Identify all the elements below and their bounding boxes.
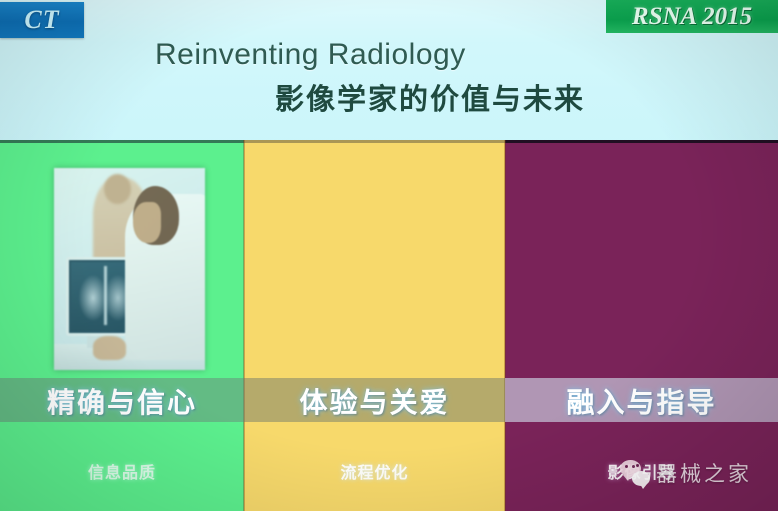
column-subcaption-precision: 信息品质: [0, 457, 244, 485]
column-caption-precision: 精确与信心: [0, 381, 244, 421]
wechat-bubbles-icon: [620, 460, 650, 486]
column-integration: [505, 140, 778, 511]
watermark-label: 器械之家: [656, 458, 752, 488]
slide-header: CT RSNA 2015 Reinventing Radiology 影像学家的…: [0, 0, 778, 140]
column-top-line: [244, 140, 505, 143]
watermark: 器械之家: [620, 458, 752, 488]
ct-logo-label: CT: [24, 5, 59, 35]
column-caption-experience: 体验与关爱: [244, 381, 505, 421]
bubble-eye-dot: [642, 464, 645, 467]
bubble-eye-dot: [625, 465, 628, 468]
photo-doctor-hand: [93, 336, 126, 360]
slide-title-english: Reinventing Radiology: [155, 38, 466, 72]
bubble-eye-dot: [632, 465, 635, 468]
column-caption-integration: 融入与指导: [505, 381, 778, 421]
rsna-logo: RSNA 2015: [606, 0, 778, 33]
column-divider-2: [504, 140, 506, 511]
presentation-slide: CT RSNA 2015 Reinventing Radiology 影像学家的…: [0, 0, 778, 511]
column-top-line: [505, 140, 778, 143]
chat-bubble-front: [632, 471, 650, 486]
column-top-line: [0, 140, 244, 143]
photo-doctor-face: [133, 202, 162, 242]
column-subcaption-experience: 流程优化: [244, 457, 505, 485]
rsna-logo-label: RSNA 2015: [632, 3, 752, 31]
photo-radiologist-at-workstation: [54, 168, 205, 370]
ct-logo-badge: CT: [0, 2, 84, 38]
bubble-eye-dot: [636, 464, 639, 467]
three-column-panel: 精确与信心 体验与关爱 融入与指导 信息品质 流程优化 影像引导: [0, 140, 778, 511]
photo-xray-spine: [104, 266, 107, 325]
column-precision: [0, 140, 244, 511]
column-divider-1: [243, 140, 245, 511]
column-experience: [244, 140, 505, 511]
slide-title-chinese: 影像学家的价值与未来: [275, 76, 585, 118]
